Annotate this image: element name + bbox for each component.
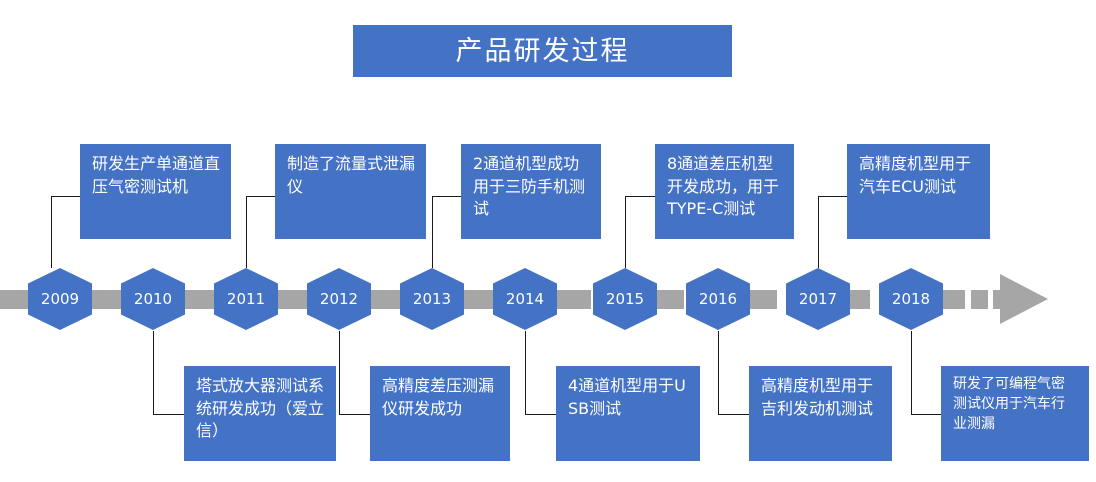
connector-2015	[625, 196, 626, 268]
connector-2011	[246, 196, 247, 268]
timeline-node-year: 2009	[41, 292, 79, 307]
connector-2013	[432, 196, 462, 197]
milestone-callout-2016[interactable]: 高精度机型用于吉利发动机测试	[749, 366, 892, 461]
timeline-track-segment	[557, 290, 591, 309]
connector-2010	[153, 414, 185, 415]
timeline-node-year: 2017	[799, 292, 837, 307]
connector-2017	[818, 196, 848, 197]
timeline-node-year: 2012	[320, 292, 358, 307]
timeline-node-year: 2015	[606, 292, 644, 307]
timeline-node-year: 2016	[699, 292, 737, 307]
milestone-callout-2009[interactable]: 研发生产单通道直压气密测试机	[80, 144, 231, 239]
page-title: 产品研发过程	[456, 38, 630, 65]
connector-2011	[246, 196, 276, 197]
timeline-track-segment	[464, 290, 498, 309]
connector-2010	[153, 331, 154, 414]
timeline-node-year: 2014	[506, 292, 544, 307]
connector-2014	[525, 414, 557, 415]
page-title-banner: 产品研发过程	[353, 25, 732, 77]
timeline-infographic: 产品研发过程 研发生产单通道直压气密测试机 制造了流量式泄漏仪 2通道机型成功用…	[0, 0, 1096, 482]
connector-2009	[51, 196, 52, 268]
timeline-track-segment	[185, 290, 219, 309]
timeline-node-2010[interactable]: 2010	[121, 268, 185, 330]
milestone-callout-2017[interactable]: 高精度机型用于汽车ECU测试	[847, 144, 990, 239]
connector-2018	[911, 414, 943, 415]
connector-2012	[339, 331, 340, 414]
milestone-callout-2015[interactable]: 8通道差压机型开发成功，用于TYPE-C测试	[655, 144, 794, 239]
timeline-node-2018[interactable]: 2018	[879, 268, 943, 330]
timeline-node-2012[interactable]: 2012	[307, 268, 371, 330]
milestone-callout-2012[interactable]: 高精度差压测漏仪研发成功	[370, 366, 510, 461]
connector-2015	[625, 196, 655, 197]
timeline-track-segment	[371, 290, 405, 309]
connector-2016	[718, 331, 719, 414]
timeline-node-2009[interactable]: 2009	[28, 268, 92, 330]
connector-2017	[818, 196, 819, 268]
timeline-node-2013[interactable]: 2013	[400, 268, 464, 330]
milestone-callout-2013[interactable]: 2通道机型成功用于三防手机测试	[461, 144, 601, 239]
timeline-node-2017[interactable]: 2017	[786, 268, 850, 330]
milestone-callout-2014[interactable]: 4通道机型用于USB测试	[556, 366, 700, 461]
milestone-callout-2018[interactable]: 研发了可编程气密测试仪用于汽车行业测漏	[941, 366, 1089, 461]
connector-2014	[525, 331, 526, 414]
timeline-node-2014[interactable]: 2014	[493, 268, 557, 330]
timeline-track-dash	[971, 290, 988, 309]
connector-2013	[432, 196, 433, 268]
timeline-arrow-head	[1000, 274, 1048, 324]
timeline-node-2016[interactable]: 2016	[686, 268, 750, 330]
timeline-node-year: 2010	[134, 292, 172, 307]
timeline-track-segment	[92, 290, 126, 309]
milestone-callout-2011[interactable]: 制造了流量式泄漏仪	[275, 144, 426, 239]
timeline-node-year: 2013	[413, 292, 451, 307]
milestone-callout-2010[interactable]: 塔式放大器测试系统研发成功（爱立信）	[184, 366, 336, 461]
timeline-track-segment	[278, 290, 312, 309]
timeline-node-year: 2011	[227, 292, 265, 307]
connector-2012	[339, 414, 371, 415]
timeline-node-year: 2018	[892, 292, 930, 307]
timeline-node-2011[interactable]: 2011	[214, 268, 278, 330]
connector-2016	[718, 414, 750, 415]
timeline-node-2015[interactable]: 2015	[593, 268, 657, 330]
connector-2009	[51, 196, 81, 197]
connector-2018	[911, 331, 912, 414]
